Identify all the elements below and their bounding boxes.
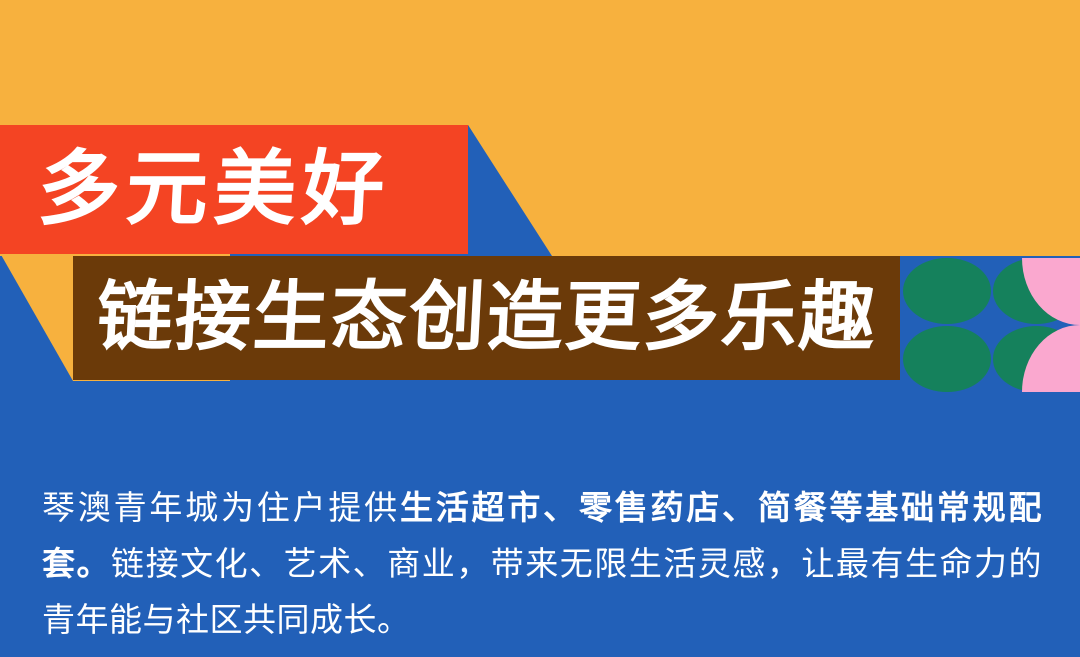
body-paragraph: 琴澳青年城为住户提供生活超市、零售药店、简餐等基础常规配套。链接文化、艺术、商业… [42,480,1042,648]
body-segment-tail: 链接文化、艺术、商业，带来无限生活灵感，让最有生命力的青年能与社区共同成长。 [42,545,1042,638]
green-circle-icon [903,258,991,324]
secondary-headline-text: 链接生态创造更多乐趣 [71,280,879,356]
green-circle-icon [903,326,991,392]
primary-headline-banner: 多元美好 [0,125,468,254]
primary-headline-text: 多元美好 [0,149,392,231]
pink-leaf-bottom-half [1022,325,1080,392]
secondary-headline-banner: 链接生态创造更多乐趣 [73,256,900,380]
body-segment-lead: 琴澳青年城为住户提供 [42,489,400,526]
poster-canvas: 多元美好 链接生态创造更多乐趣 琴澳青年城为住户提供生活超市、零售药店、简餐等基… [0,0,1080,657]
pink-leaf-top-half [1022,258,1080,325]
pink-leaf-icon [1022,258,1080,392]
